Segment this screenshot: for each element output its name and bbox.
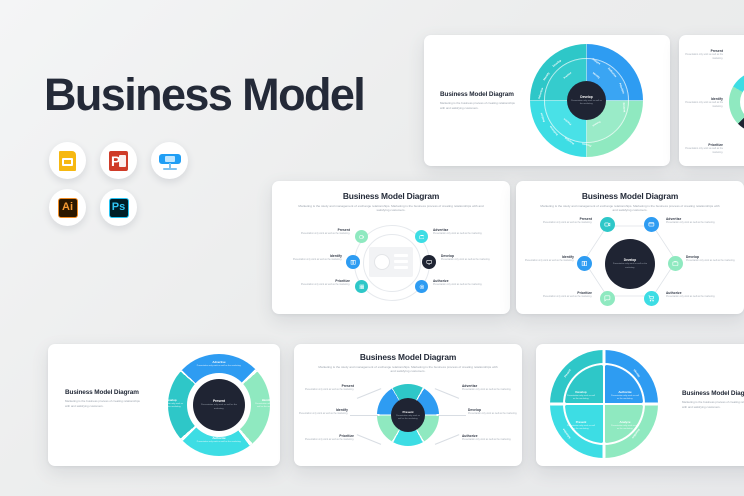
donut-four-chart: Present Presentation only work as well a… — [168, 354, 270, 456]
keynote-icon[interactable] — [151, 142, 188, 179]
connector-develop — [438, 415, 466, 416]
slide-hexagon[interactable]: Business Model Diagram Marketing is the … — [516, 181, 744, 314]
compatible-apps-list: Ai Ps — [49, 142, 209, 236]
label-prioritize: PrioritizePresentation only work as well… — [536, 291, 592, 300]
node-present[interactable] — [600, 217, 615, 232]
label-prioritize: PrioritizePresentation only work as well… — [302, 434, 354, 443]
label-prioritize: PrioritizePresentation only work as well… — [294, 279, 350, 288]
node-present[interactable] — [355, 230, 368, 243]
node-authorize[interactable] — [644, 291, 659, 306]
presentation-preview-canvas: Business Model Ai Ps Business Model Diag… — [0, 0, 744, 496]
photoshop-icon[interactable]: Ps — [100, 189, 137, 226]
google-slides-icon[interactable] — [49, 142, 86, 179]
label-authorize: AuthorizePresentation only work as well … — [462, 434, 514, 443]
slide-subtitle: Marketing is the business process of cre… — [440, 101, 518, 110]
node-advertise[interactable] — [415, 230, 428, 243]
node-advertise[interactable] — [644, 217, 659, 232]
connector-identify — [350, 415, 378, 416]
label-present: PresentPresentation only work as well as… — [536, 217, 592, 226]
connector-advertise — [435, 388, 459, 398]
label-develop: DevelopPresentation only work as well as… — [468, 408, 520, 417]
slide-title: Business Model Diagram — [440, 91, 518, 98]
slide-subtitle: Marketing is the study and management of… — [316, 365, 500, 375]
slide-title: Business Model Diagram — [65, 389, 145, 396]
label-advertise: AdvertisePresentation only work as well … — [462, 384, 514, 393]
label-advertise: AdvertisePresentation only work as well … — [666, 217, 722, 226]
slide-donut-six[interactable]: Business Model Diagram Marketing is the … — [294, 344, 522, 466]
label-identify: IdentifyPresentation only work as well a… — [286, 254, 342, 263]
partial-donut-chart — [729, 71, 744, 133]
slide-subtitle: Marketing is the business process of cre… — [65, 399, 145, 408]
label-identify: IdentifyPresentation only work as well a… — [518, 255, 574, 264]
slide-subtitle: Marketing is the study and management of… — [538, 204, 722, 214]
slide-title: Business Model Diagram — [538, 191, 722, 201]
slide-circle-icons[interactable]: Business Model Diagram Marketing is the … — [272, 181, 510, 314]
node-authorize[interactable] — [415, 280, 428, 293]
connector-present — [357, 388, 381, 398]
sunburst-labels: Analyze Authorize Prioritize Present Dev… — [530, 44, 643, 157]
label-authorize: AuthorizePresentation only work as well … — [433, 279, 489, 288]
partial-label-present: Present Presentation only work as well a… — [679, 49, 723, 61]
slide-title: Business Model Diagram — [316, 352, 500, 362]
label-develop: DevelopPresentation only work as well as… — [686, 255, 742, 264]
slide-quadrant[interactable]: DevelopPresentation only work as well as… — [536, 344, 744, 466]
partial-label-prioritize: Prioritize Presentation only work as wel… — [679, 143, 723, 155]
illustrator-icon[interactable]: Ai — [49, 189, 86, 226]
quadrant-chart: DevelopPresentation only work as well as… — [550, 350, 658, 458]
powerpoint-icon[interactable] — [100, 142, 137, 179]
slide-title: Business Model Diagram — [298, 191, 484, 201]
node-prioritize[interactable] — [600, 291, 615, 306]
id-card-placeholder — [369, 247, 413, 277]
connector-prioritize — [357, 434, 381, 444]
slide-donut-four[interactable]: Business Model Diagram Marketing is the … — [48, 344, 280, 466]
label-present: PresentPresentation only work as well as… — [294, 228, 350, 237]
label-advertise: AdvertisePresentation only work as well … — [433, 228, 489, 237]
label-present: PresentPresentation only work as well as… — [302, 384, 354, 393]
label-identify: IdentifyPresentation only work as well a… — [296, 408, 348, 417]
slide-sunburst[interactable]: Business Model Diagram Marketing is the … — [424, 35, 670, 166]
donut-six-chart: Present Presentation only work as well a… — [377, 384, 439, 446]
label-authorize: AuthorizePresentation only work as well … — [666, 291, 722, 300]
slide-partial-right[interactable]: Present Presentation only work as well a… — [679, 35, 744, 166]
slide-title: Business Model Diagram — [682, 390, 744, 397]
node-develop[interactable] — [422, 255, 436, 269]
label-develop: DevelopPresentation only work as well as… — [441, 254, 497, 263]
connector-authorize — [435, 434, 459, 444]
node-develop[interactable] — [668, 256, 683, 271]
slide-subtitle: Marketing is the business process of cre… — [682, 400, 744, 409]
page-title: Business Model — [44, 72, 364, 117]
node-identify[interactable] — [577, 256, 592, 271]
node-identify[interactable] — [346, 255, 360, 269]
slide-subtitle: Marketing is the study and management of… — [298, 204, 484, 214]
hexagon-center: Develop Presentation only work as well a… — [605, 239, 655, 289]
partial-label-identify: Identify Presentation only work as well … — [679, 97, 723, 109]
node-prioritize[interactable] — [355, 280, 368, 293]
